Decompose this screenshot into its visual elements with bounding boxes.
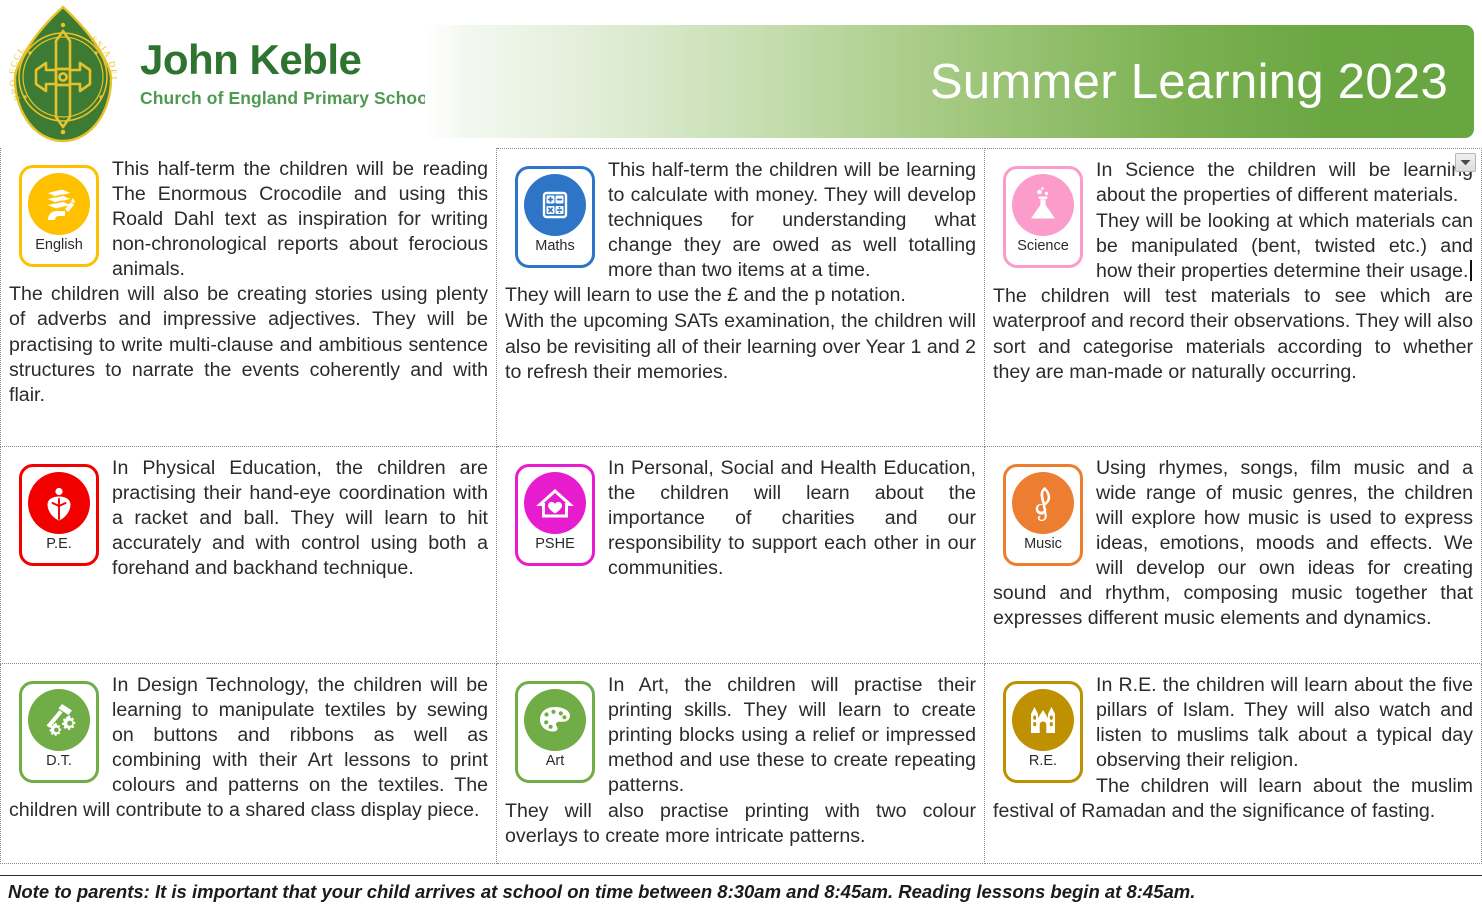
calculator-icon: [524, 174, 586, 236]
flask-icon: [1012, 174, 1074, 236]
school-crest-icon: PRO ECCL ESIA DEI: [8, 5, 118, 143]
church-building-icon: [1012, 689, 1074, 751]
table-row: English This half-term the children will…: [0, 148, 1482, 447]
subject-badge-label: English: [35, 238, 83, 253]
treble-clef-icon: [1012, 472, 1074, 534]
subject-badge-music: Music: [1003, 464, 1083, 566]
subject-badge-label: PSHE: [535, 537, 575, 552]
subject-cell-re: R.E. In R.E. the children will learn abo…: [985, 664, 1482, 864]
subject-cell-art: Art In Art, the children will practise t…: [497, 664, 985, 864]
paragraph: They will also practise printing with tw…: [505, 799, 976, 849]
footer-note: Note to parents: It is important that yo…: [8, 880, 1468, 904]
table-row: D.T. In Design Technology, the children …: [0, 664, 1482, 864]
subject-badge-dt: D.T.: [19, 681, 99, 783]
paragraph: The children will test materials to see …: [993, 284, 1473, 384]
subject-cell-maths: Maths This half-term the children will b…: [497, 148, 985, 447]
document-page: PRO ECCL ESIA DEI John Keble Church of E…: [0, 0, 1482, 924]
footer-divider: [0, 875, 1482, 876]
subject-badge-label: Science: [1017, 239, 1069, 254]
subject-badge-label: P.E.: [46, 537, 72, 552]
subject-cell-dt: D.T. In Design Technology, the children …: [0, 664, 497, 864]
palette-icon: [524, 689, 586, 751]
subject-badge-label: Music: [1024, 537, 1062, 552]
chevron-down-icon[interactable]: [1455, 153, 1476, 172]
subject-badge-science: Science: [1003, 166, 1083, 268]
books-and-pen-icon: [28, 173, 90, 235]
subject-badge-label: Maths: [535, 239, 575, 254]
subject-badge-maths: Maths: [515, 166, 595, 268]
subject-badge-art: Art: [515, 681, 595, 783]
subject-badge-english: English: [19, 165, 99, 267]
subject-badge-re: R.E.: [1003, 681, 1083, 783]
paragraph: With the upcoming SATs examination, the …: [505, 309, 976, 384]
subject-cell-music: Music Using rhymes, songs, film music an…: [985, 447, 1482, 664]
subject-badge-label: R.E.: [1029, 754, 1057, 769]
subjects-table: English This half-term the children will…: [0, 148, 1482, 870]
subject-cell-pshe: PSHE In Personal, Social and Health Educ…: [497, 447, 985, 664]
school-branding: PRO ECCL ESIA DEI John Keble Church of E…: [8, 4, 433, 144]
subject-badge-pe: P.E.: [19, 464, 99, 566]
house-heart-icon: [524, 472, 586, 534]
table-row: P.E. In Physical Education, the children…: [0, 447, 1482, 664]
page-title: Summer Learning 2023: [930, 54, 1474, 110]
document-header: PRO ECCL ESIA DEI John Keble Church of E…: [0, 0, 1482, 148]
subject-badge-label: D.T.: [46, 754, 72, 769]
school-name-secondary: Church of England Primary School: [140, 88, 433, 109]
school-name-primary: John Keble: [140, 39, 433, 81]
subject-cell-science: Science In Science the children will be …: [985, 148, 1482, 447]
running-figure-icon: [28, 472, 90, 534]
paragraph: The children will also be creating stori…: [9, 282, 488, 407]
school-name: John Keble Church of England Primary Sch…: [140, 39, 433, 109]
title-banner: Summer Learning 2023: [425, 25, 1474, 138]
subject-badge-label: Art: [546, 754, 565, 769]
subject-cell-english: English This half-term the children will…: [0, 148, 497, 447]
text-caret: [1470, 260, 1472, 281]
hammer-gears-icon: [28, 689, 90, 751]
subject-cell-pe: P.E. In Physical Education, the children…: [0, 447, 497, 664]
subject-badge-pshe: PSHE: [515, 464, 595, 566]
paragraph: They will learn to use the £ and the p n…: [505, 283, 976, 308]
